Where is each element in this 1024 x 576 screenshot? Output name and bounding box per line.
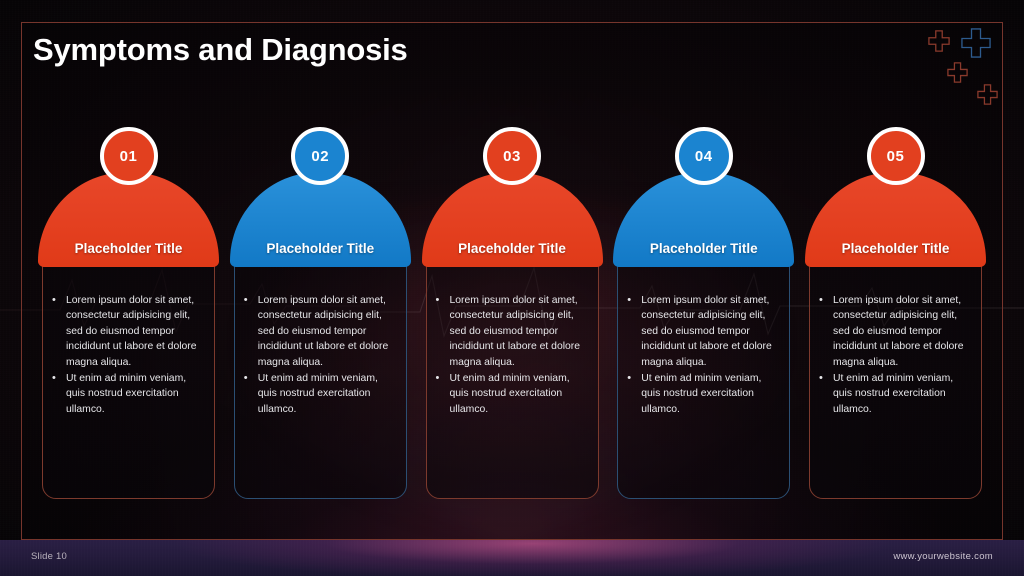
card-02[interactable]: Lorem ipsum dolor sit amet, consectetur …: [230, 127, 411, 499]
list-item: Lorem ipsum dolor sit amet, consectetur …: [243, 293, 396, 370]
card-05[interactable]: Lorem ipsum dolor sit amet, consectetur …: [805, 127, 986, 499]
number-badge: 04: [675, 127, 733, 185]
list-item: Lorem ipsum dolor sit amet, consectetur …: [435, 293, 588, 370]
list-item: Ut enim ad minim veniam, quis nostrud ex…: [818, 371, 971, 417]
card-header-arch: Placeholder Title: [230, 172, 411, 267]
bullet-list: Lorem ipsum dolor sit amet, consectetur …: [51, 293, 204, 417]
bottom-glow-band: [0, 540, 1024, 576]
plus-icon: [947, 62, 968, 83]
card-title: Placeholder Title: [458, 240, 566, 258]
number-label: 01: [120, 149, 138, 164]
card-title: Placeholder Title: [842, 240, 950, 258]
card-body: Lorem ipsum dolor sit amet, consectetur …: [426, 246, 599, 499]
card-body: Lorem ipsum dolor sit amet, consectetur …: [234, 246, 407, 499]
number-label: 03: [503, 149, 521, 164]
list-item: Ut enim ad minim veniam, quis nostrud ex…: [51, 371, 204, 417]
card-header-arch: Placeholder Title: [422, 172, 603, 267]
plus-icon: [928, 30, 950, 52]
bullet-list: Lorem ipsum dolor sit amet, consectetur …: [818, 293, 971, 417]
list-item: Lorem ipsum dolor sit amet, consectetur …: [818, 293, 971, 370]
number-label: 05: [887, 149, 905, 164]
slide: Symptoms and Diagnosis Lorem ipsum dolor…: [0, 0, 1024, 576]
card-03[interactable]: Lorem ipsum dolor sit amet, consectetur …: [422, 127, 603, 499]
card-header-arch: Placeholder Title: [805, 172, 986, 267]
number-badge: 02: [291, 127, 349, 185]
card-04[interactable]: Lorem ipsum dolor sit amet, consectetur …: [613, 127, 794, 499]
bullet-list: Lorem ipsum dolor sit amet, consectetur …: [243, 293, 396, 417]
plus-icon: [977, 84, 998, 105]
list-item: Lorem ipsum dolor sit amet, consectetur …: [626, 293, 779, 370]
card-header-arch: Placeholder Title: [613, 172, 794, 267]
list-item: Ut enim ad minim veniam, quis nostrud ex…: [243, 371, 396, 417]
number-badge: 03: [483, 127, 541, 185]
plus-icon: [961, 28, 991, 58]
number-label: 02: [311, 149, 329, 164]
list-item: Ut enim ad minim veniam, quis nostrud ex…: [626, 371, 779, 417]
card-body: Lorem ipsum dolor sit amet, consectetur …: [42, 246, 215, 499]
slide-number: Slide 10: [31, 551, 67, 562]
number-badge: 01: [100, 127, 158, 185]
website-label: www.yourwebsite.com: [893, 551, 993, 562]
page-title: Symptoms and Diagnosis: [33, 32, 408, 68]
list-item: Ut enim ad minim veniam, quis nostrud ex…: [435, 371, 588, 417]
card-row: Lorem ipsum dolor sit amet, consectetur …: [38, 127, 986, 499]
number-label: 04: [695, 149, 713, 164]
card-01[interactable]: Lorem ipsum dolor sit amet, consectetur …: [38, 127, 219, 499]
card-title: Placeholder Title: [650, 240, 758, 258]
card-title: Placeholder Title: [266, 240, 374, 258]
list-item: Lorem ipsum dolor sit amet, consectetur …: [51, 293, 204, 370]
bullet-list: Lorem ipsum dolor sit amet, consectetur …: [435, 293, 588, 417]
card-header-arch: Placeholder Title: [38, 172, 219, 267]
card-title: Placeholder Title: [75, 240, 183, 258]
card-body: Lorem ipsum dolor sit amet, consectetur …: [617, 246, 790, 499]
number-badge: 05: [867, 127, 925, 185]
bullet-list: Lorem ipsum dolor sit amet, consectetur …: [626, 293, 779, 417]
card-body: Lorem ipsum dolor sit amet, consectetur …: [809, 246, 982, 499]
